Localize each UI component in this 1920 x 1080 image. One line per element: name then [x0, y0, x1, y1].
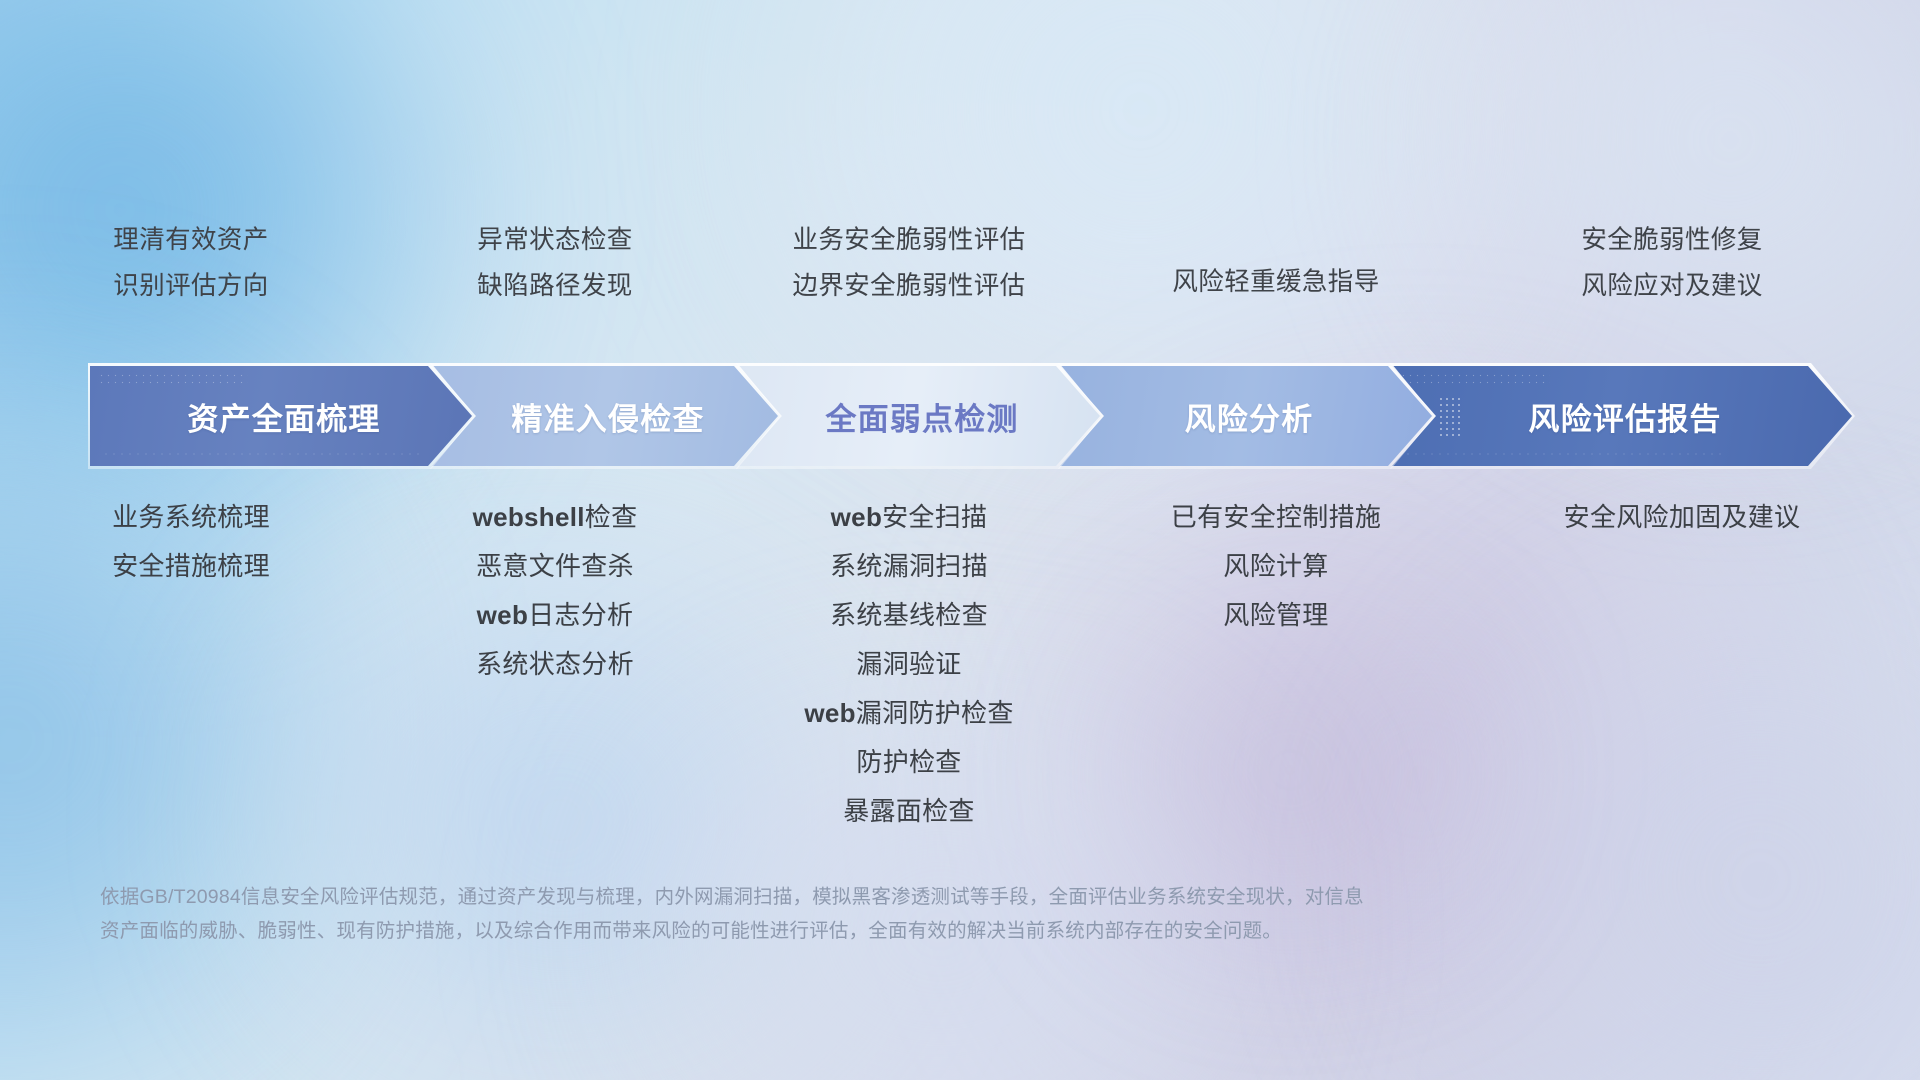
stage-top-descriptions: 理清有效资产 识别评估方向 异常状态检查 缺陷路径发现 业务安全脆弱性评估 边界… [0, 228, 1920, 338]
chevron-4-label: 风险分析 [1060, 394, 1432, 439]
stage-chevron-banner: 资产全面梳理 精准入侵检查 全面弱点检测 风险分析 风险评估报告 [90, 366, 1852, 466]
list-item-head: web [804, 698, 855, 728]
stage-4-bottom-list: 已有安全控制措施 风险计算 风险管理 [1090, 504, 1462, 847]
list-item: 系统状态分析 [476, 651, 634, 677]
list-item: 风险计算 [1223, 553, 1328, 579]
chevron-stage-3[interactable]: 全面弱点检测 [738, 366, 1100, 466]
list-item: webshell检查 [473, 504, 638, 530]
list-item: 漏洞验证 [856, 651, 961, 677]
stage-2-top-group: 异常状态检查 缺陷路径发现 [382, 228, 728, 338]
list-item-tail: 漏洞防护检查 [856, 698, 1014, 728]
list-item: 系统漏洞扫描 [830, 553, 988, 579]
list-item-tail: 安全扫描 [882, 502, 987, 532]
list-item: 风险管理 [1223, 602, 1328, 628]
process-diagram: 理清有效资产 识别评估方向 异常状态检查 缺陷路径发现 业务安全脆弱性评估 边界… [0, 0, 1920, 1080]
footer-description: 依据GB/T20984信息安全风险评估规范，通过资产发现与梳理，内外网漏洞扫描，… [100, 880, 1620, 948]
stage-1-top-line-2: 识别评估方向 [113, 274, 268, 300]
stage-3-bottom-list: web安全扫描 系统漏洞扫描 系统基线检查 漏洞验证 web漏洞防护检查 防护检… [728, 504, 1090, 847]
list-item: web安全扫描 [831, 504, 988, 530]
stage-1-top-group: 理清有效资产 识别评估方向 [0, 228, 382, 338]
chevron-1-dot-texture-bottom [102, 450, 422, 460]
chevron-stage-5[interactable]: 风险评估报告 [1392, 366, 1852, 466]
stage-5-top-group: 安全脆弱性修复 风险应对及建议 [1462, 228, 1882, 338]
chevron-1-dot-texture-top [98, 372, 248, 386]
list-item: 防护检查 [856, 749, 961, 775]
stage-3-top-line-1: 业务安全脆弱性评估 [792, 228, 1025, 254]
stage-3-top-line-2: 边界安全脆弱性评估 [792, 274, 1025, 300]
list-item-head: web [477, 600, 528, 630]
list-item: web漏洞防护检查 [804, 700, 1013, 726]
stage-1-bottom-list: 业务系统梳理 安全措施梳理 [0, 504, 382, 847]
chevron-3-label: 全面弱点检测 [738, 394, 1100, 439]
stage-2-bottom-list: webshell检查 恶意文件查杀 web日志分析 系统状态分析 [382, 504, 728, 847]
list-item: 暴露面检查 [843, 798, 975, 824]
stage-4-top-line-1: 风险轻重缓急指导 [1172, 270, 1379, 296]
chevron-stage-1[interactable]: 资产全面梳理 [90, 366, 472, 466]
list-item: 已有安全控制措施 [1171, 504, 1381, 530]
stage-5-top-line-2: 风险应对及建议 [1581, 274, 1762, 300]
chevron-5-dot-texture-bottom [1404, 450, 1724, 460]
stage-2-top-line-1: 异常状态检查 [477, 228, 632, 254]
footer-line-1: 依据GB/T20984信息安全风险评估规范，通过资产发现与梳理，内外网漏洞扫描，… [100, 880, 1620, 914]
list-item-tail: 检查 [585, 502, 638, 532]
stage-4-top-group: 风险轻重缓急指导 [1090, 228, 1462, 338]
list-item-head: webshell [473, 502, 585, 532]
list-item: 恶意文件查杀 [476, 553, 634, 579]
stage-bottom-details: 业务系统梳理 安全措施梳理 webshell检查 恶意文件查杀 web日志分析 … [0, 504, 1920, 847]
list-item: 系统基线检查 [830, 602, 988, 628]
chevron-2-label: 精准入侵检查 [432, 394, 778, 439]
footer-line-2: 资产面临的威胁、脆弱性、现有防护措施，以及综合作用而带来风险的可能性进行评估，全… [100, 914, 1620, 948]
list-item-tail: 日志分析 [528, 600, 633, 630]
stage-2-top-line-2: 缺陷路径发现 [477, 274, 632, 300]
list-item: web日志分析 [477, 602, 634, 628]
stage-3-top-group: 业务安全脆弱性评估 边界安全脆弱性评估 [728, 228, 1090, 338]
chevron-5-label: 风险评估报告 [1392, 394, 1852, 439]
stage-5-bottom-list: 安全风险加固及建议 [1462, 504, 1902, 847]
list-item: 业务系统梳理 [112, 504, 270, 530]
list-item: 安全风险加固及建议 [1564, 504, 1801, 530]
list-item: 安全措施梳理 [112, 553, 270, 579]
stage-5-top-line-1: 安全脆弱性修复 [1581, 228, 1762, 254]
chevron-stage-2[interactable]: 精准入侵检查 [432, 366, 778, 466]
list-item-head: web [831, 502, 882, 532]
chevron-1-label: 资产全面梳理 [90, 394, 472, 439]
stage-1-top-line-1: 理清有效资产 [113, 228, 268, 254]
chevron-stage-4[interactable]: 风险分析 [1060, 366, 1432, 466]
